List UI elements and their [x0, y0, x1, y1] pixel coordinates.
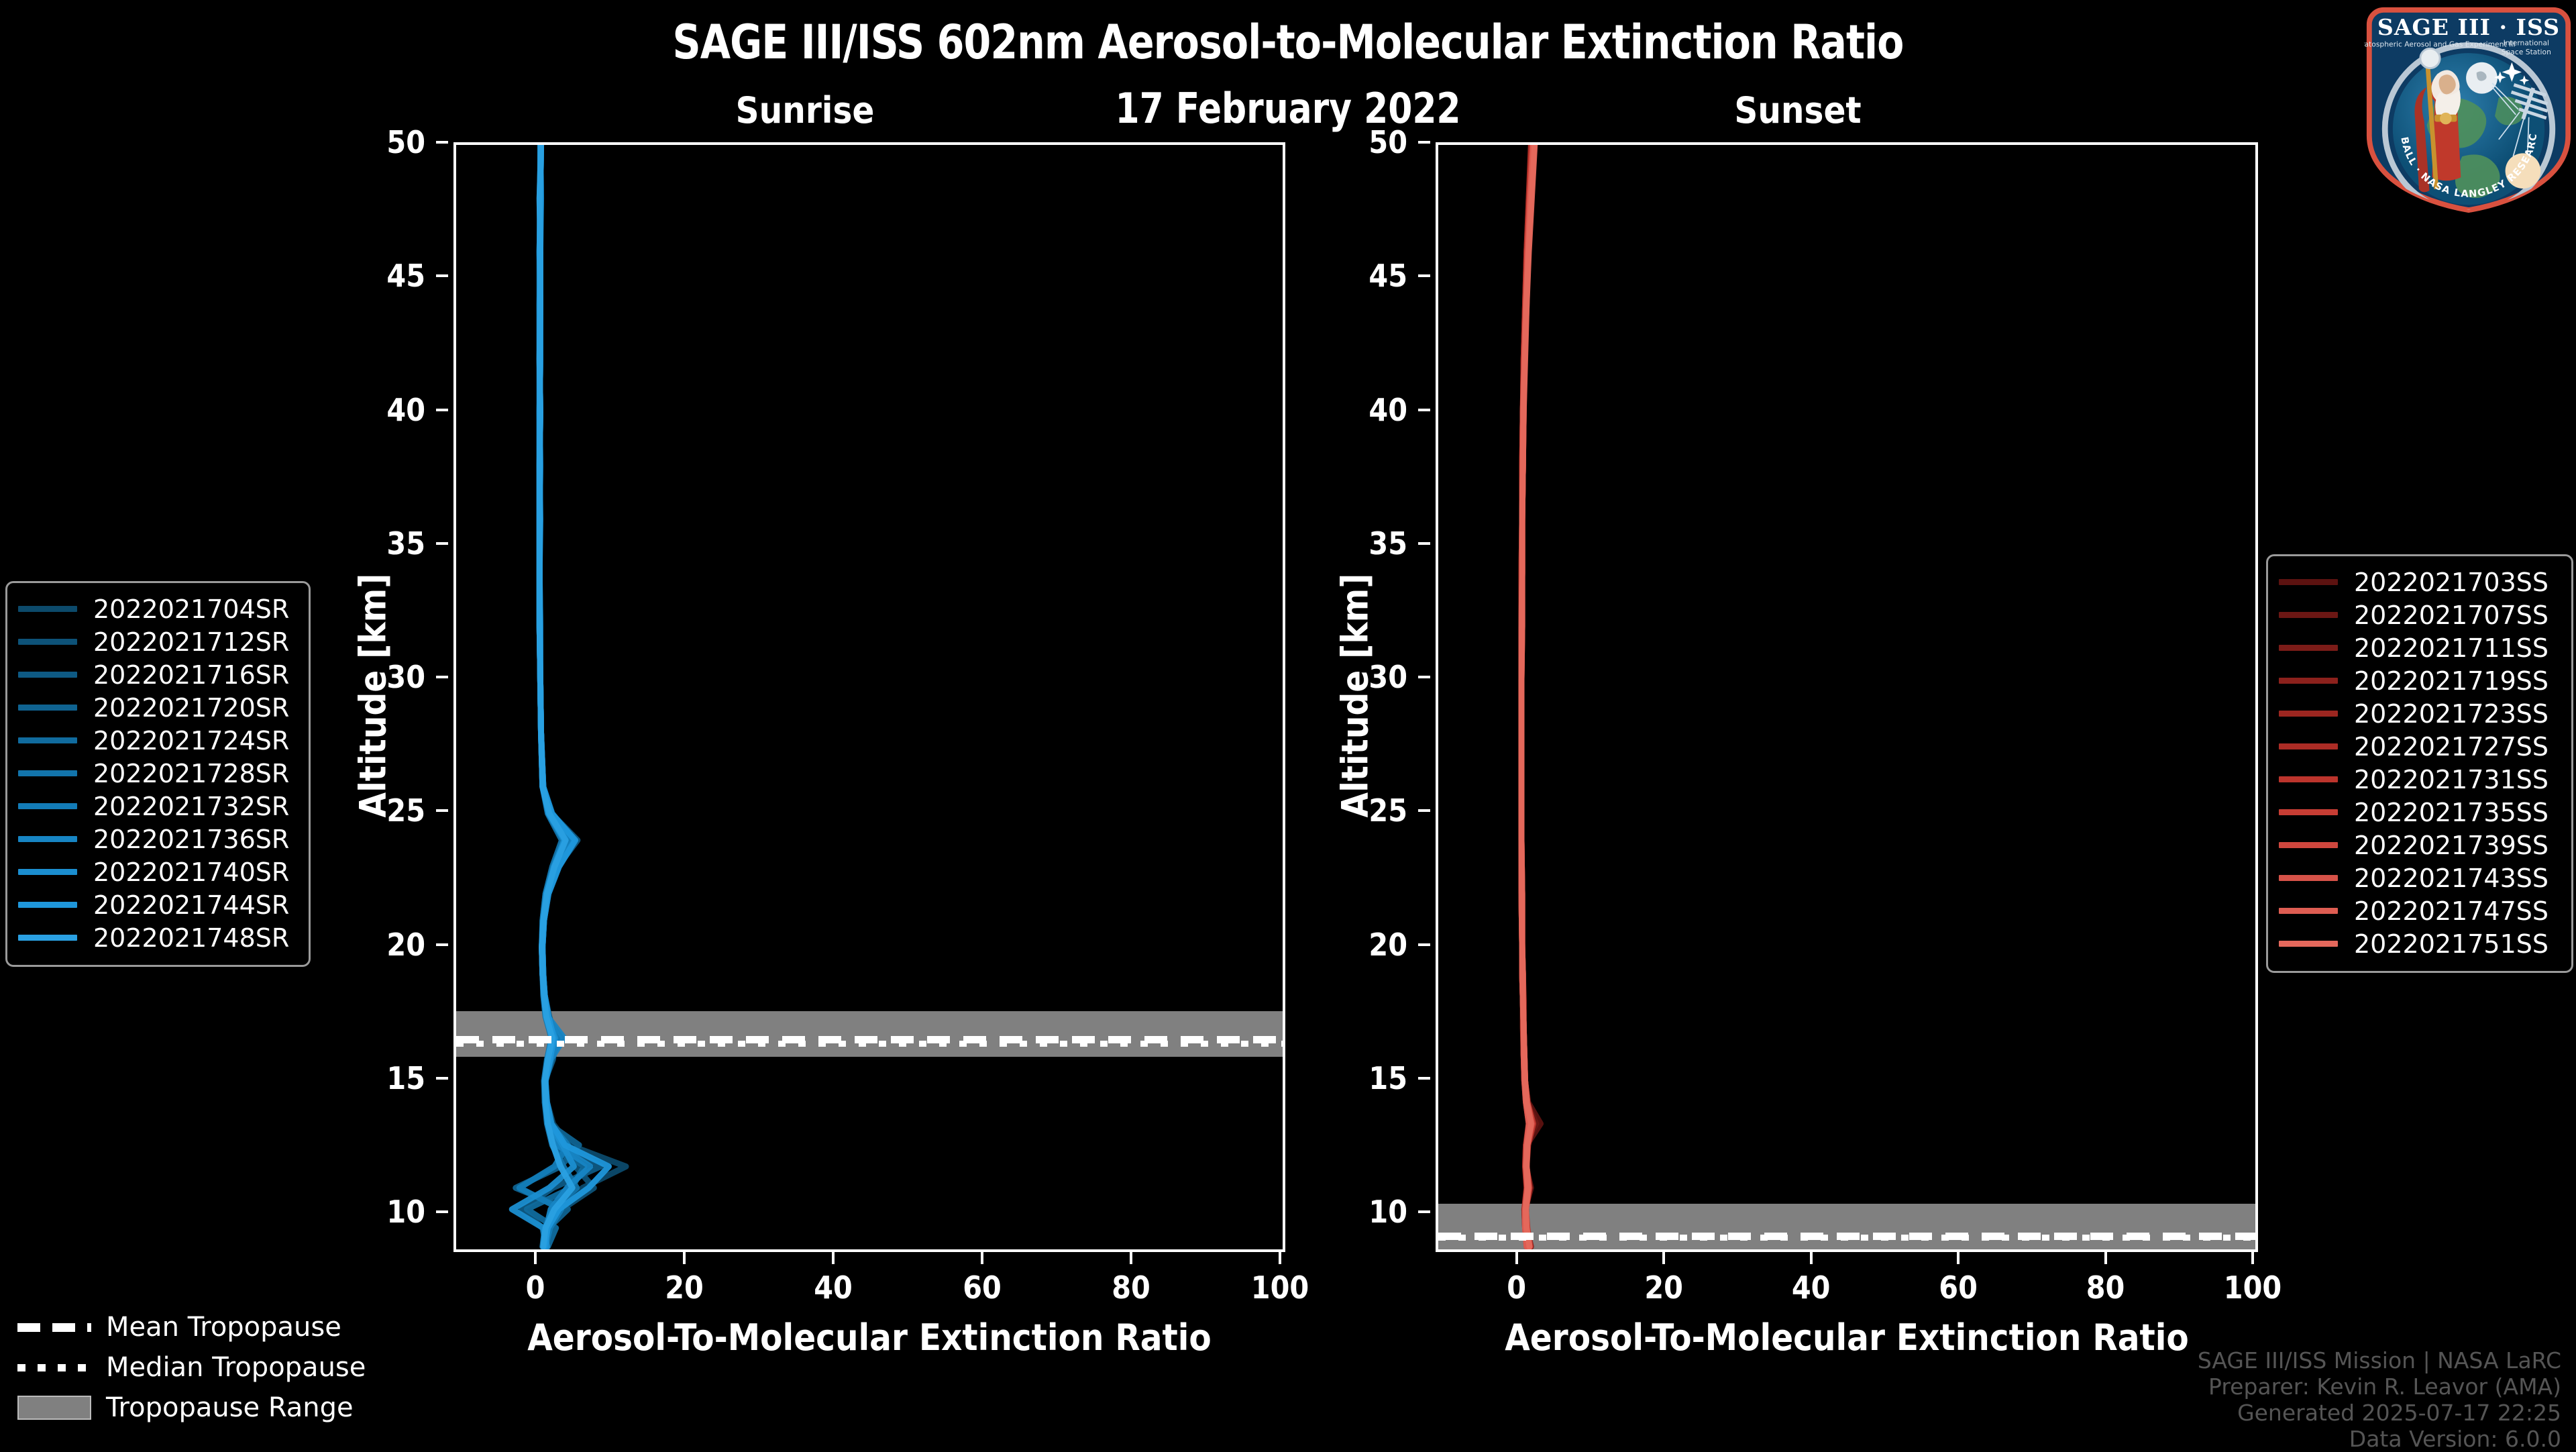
y-tick-label: 10 [325, 1194, 425, 1230]
legend-item-label: 2022021711SS [2354, 633, 2548, 663]
legend-item-label: 2022021728SR [93, 759, 289, 788]
x-tick-mark [683, 1252, 686, 1264]
footer-credits: SAGE III/ISS Mission | NASA LaRCPreparer… [2198, 1347, 2561, 1452]
x-tick-mark [981, 1252, 983, 1264]
svg-text:International: International [2504, 38, 2549, 47]
legend-item-label: 2022021740SR [93, 858, 289, 887]
legend-item-label: 2022021727SS [2354, 732, 2548, 762]
legend-item[interactable]: 2022021744SR [18, 888, 298, 921]
y-tick-label: 50 [325, 124, 425, 160]
x-tick-mark [2251, 1252, 2254, 1264]
legend-color-swatch [2279, 743, 2338, 749]
tropopause-key-item: Tropopause Range [17, 1388, 447, 1428]
legend-color-swatch [18, 639, 77, 645]
legend-color-swatch [18, 705, 77, 711]
y-tick-label: 15 [325, 1060, 425, 1096]
x-tick-label: 40 [814, 1269, 853, 1306]
y-tick-label: 40 [325, 392, 425, 428]
legend-item-label: 2022021732SR [93, 792, 289, 821]
legend-color-swatch [2279, 941, 2338, 947]
legend-item[interactable]: 2022021728SR [18, 757, 298, 790]
legend-item[interactable]: 2022021743SS [2279, 862, 2561, 894]
legend-color-swatch [18, 902, 77, 908]
x-tick-mark [832, 1252, 835, 1264]
legend-item[interactable]: 2022021707SS [2279, 599, 2561, 631]
legend-item-label: 2022021703SS [2354, 568, 2548, 597]
legend-item-label: 2022021748SR [93, 923, 289, 953]
x-tick-label: 0 [1507, 1269, 1526, 1306]
x-axis-title: Aerosol-To-Molecular Extinction Ratio [1436, 1316, 2258, 1359]
legend-item-label: 2022021712SR [93, 627, 289, 657]
y-tick-label: 45 [325, 258, 425, 294]
page-title: SAGE III/ISS 602nm Aerosol-to-Molecular … [90, 15, 2485, 70]
legend-item[interactable]: 2022021736SR [18, 823, 298, 855]
y-tick-label: 45 [1307, 258, 1407, 294]
x-tick-label: 60 [1939, 1269, 1978, 1306]
tropopause-key-item: Mean Tropopause [17, 1307, 447, 1347]
legend-color-swatch [2279, 809, 2338, 815]
legend-item[interactable]: 2022021723SS [2279, 697, 2561, 730]
sunset-x-axis: 020406080100Aerosol-To-Molecular Extinct… [1436, 1252, 2258, 1366]
y-axis-title: Altitude [km] [352, 562, 394, 830]
y-tick-label: 10 [1307, 1194, 1407, 1230]
legend-item[interactable]: 2022021724SR [18, 724, 298, 757]
x-tick-mark [1662, 1252, 1665, 1264]
tropopause-key-swatch-dashed [17, 1323, 91, 1332]
tropopause-key-swatch-block [17, 1396, 91, 1420]
y-tick-mark [436, 274, 448, 277]
x-tick-label: 60 [963, 1269, 1002, 1306]
footer-line: Generated 2025-07-17 22:25 [2198, 1400, 2561, 1426]
legend-color-swatch [18, 672, 77, 678]
legend-item[interactable]: 2022021735SS [2279, 796, 2561, 829]
svg-text:Stratospheric Aerosol and Gas: Stratospheric Aerosol and Gas Experiment… [2364, 40, 2516, 48]
x-axis-title: Aerosol-To-Molecular Extinction Ratio [453, 1316, 1285, 1359]
legend-color-swatch [2279, 678, 2338, 684]
y-tick-label: 35 [1307, 525, 1407, 562]
legend-item-label: 2022021739SS [2354, 831, 2548, 860]
legend-item[interactable]: 2022021711SS [2279, 631, 2561, 664]
tropopause-key-item: Median Tropopause [17, 1347, 447, 1388]
tropopause-key-label: Median Tropopause [106, 1352, 366, 1383]
x-tick-mark [1515, 1252, 1518, 1264]
legend-item-label: 2022021744SR [93, 890, 289, 920]
legend-color-swatch [2279, 579, 2338, 585]
tropopause-key-label: Mean Tropopause [106, 1312, 341, 1343]
series-2022021744SR [539, 145, 608, 1247]
y-tick-mark [436, 542, 448, 545]
sunrise-y-axis: 101520253035404550Altitude [km] [326, 142, 448, 1252]
sunrise-data-traces [456, 145, 1283, 1249]
legend-item[interactable]: 2022021727SS [2279, 730, 2561, 763]
legend-color-swatch [2279, 711, 2338, 717]
y-tick-label: 40 [1307, 392, 1407, 428]
y-tick-mark [436, 809, 448, 812]
median-tropopause-line [1438, 1235, 2255, 1241]
legend-item-label: 2022021751SS [2354, 929, 2548, 959]
y-tick-mark [436, 943, 448, 946]
legend-color-swatch [2279, 776, 2338, 782]
tropopause-key-label: Tropopause Range [106, 1392, 354, 1423]
sunrise-panel-title: Sunrise [671, 89, 939, 132]
legend-item-label: 2022021735SS [2354, 798, 2548, 827]
x-tick-mark [534, 1252, 537, 1264]
legend-item-label: 2022021719SS [2354, 666, 2548, 696]
legend-color-swatch [2279, 612, 2338, 618]
y-tick-mark [436, 1077, 448, 1080]
legend-item[interactable]: 2022021704SR [18, 592, 298, 625]
sunset-data-traces [1438, 145, 2255, 1249]
y-axis-title: Altitude [km] [1334, 562, 1377, 830]
sunrise-plot-panel [453, 142, 1285, 1252]
y-tick-mark [1418, 809, 1430, 812]
x-tick-label: 80 [2086, 1269, 2125, 1306]
legend-color-swatch [2279, 908, 2338, 914]
y-tick-label: 35 [325, 525, 425, 562]
x-tick-label: 100 [2224, 1269, 2282, 1306]
median-tropopause-line [456, 1041, 1283, 1047]
legend-item[interactable]: 2022021712SR [18, 625, 298, 658]
legend-item[interactable]: 2022021719SS [2279, 664, 2561, 697]
legend-color-swatch [2279, 645, 2338, 651]
sunset-y-axis: 101520253035404550Altitude [km] [1308, 142, 1430, 1252]
x-tick-label: 40 [1792, 1269, 1831, 1306]
y-tick-mark [1418, 1077, 1430, 1080]
y-tick-label: 20 [1307, 927, 1407, 963]
y-tick-mark [436, 141, 448, 144]
series-2022021748SR [539, 145, 572, 1247]
legend-color-swatch [18, 803, 77, 809]
legend-item-label: 2022021736SR [93, 825, 289, 854]
x-tick-mark [1130, 1252, 1132, 1264]
svg-text:Space Station: Space Station [2502, 48, 2551, 56]
legend-color-swatch [18, 737, 77, 743]
sage-iii-iss-mission-patch-logo: BALL · NASA LANGLEY RESEARCH CENTER · TA… [2364, 3, 2573, 216]
legend-item[interactable]: 2022021731SS [2279, 763, 2561, 796]
footer-line: SAGE III/ISS Mission | NASA LaRC [2198, 1347, 2561, 1373]
legend-item[interactable]: 2022021748SR [18, 921, 298, 954]
legend-color-swatch [18, 770, 77, 776]
legend-item[interactable]: 2022021732SR [18, 790, 298, 823]
svg-text:SAGE III · ISS: SAGE III · ISS [2377, 14, 2560, 40]
legend-item[interactable]: 2022021747SS [2279, 894, 2561, 927]
x-tick-label: 100 [1251, 1269, 1309, 1306]
legend-color-swatch [18, 935, 77, 941]
y-tick-mark [436, 409, 448, 411]
y-tick-mark [436, 676, 448, 678]
series-2022021704SR [539, 145, 626, 1247]
sunset-plot-panel [1436, 142, 2258, 1252]
series-2022021716SR [522, 145, 601, 1247]
legend-item-label: 2022021731SS [2354, 765, 2548, 794]
legend-item-label: 2022021743SS [2354, 864, 2548, 893]
date-title: 17 February 2022 [90, 84, 2485, 133]
y-tick-mark [1418, 943, 1430, 946]
sunrise-legend[interactable]: 2022021704SR2022021712SR2022021716SR2022… [5, 581, 311, 967]
sunset-panel-title: Sunset [1664, 89, 1932, 132]
legend-item-label: 2022021720SR [93, 693, 289, 723]
x-tick-mark [1810, 1252, 1813, 1264]
legend-item-label: 2022021716SR [93, 660, 289, 690]
x-tick-label: 0 [526, 1269, 545, 1306]
tropopause-key-swatch-dotted [17, 1364, 91, 1371]
legend-color-swatch [2279, 875, 2338, 881]
legend-item-label: 2022021704SR [93, 594, 289, 624]
legend-item-label: 2022021747SS [2354, 896, 2548, 926]
y-tick-label: 50 [1307, 124, 1407, 160]
legend-color-swatch [18, 869, 77, 875]
y-tick-mark [1418, 274, 1430, 277]
series-2022021724SR [527, 145, 584, 1247]
legend-item[interactable]: 2022021703SS [2279, 566, 2561, 599]
legend-color-swatch [2279, 842, 2338, 848]
y-tick-mark [1418, 141, 1430, 144]
tropopause-legend: Mean TropopauseMedian TropopauseTropopau… [17, 1307, 447, 1428]
y-tick-mark [1418, 1210, 1430, 1213]
footer-line: Preparer: Kevin R. Leavor (AMA) [2198, 1373, 2561, 1400]
legend-color-swatch [18, 606, 77, 612]
legend-item[interactable]: 2022021739SS [2279, 829, 2561, 862]
legend-item[interactable]: 2022021740SR [18, 855, 298, 888]
x-tick-label: 20 [1644, 1269, 1683, 1306]
x-tick-label: 20 [665, 1269, 704, 1306]
y-tick-mark [436, 1210, 448, 1213]
legend-item-label: 2022021707SS [2354, 601, 2548, 630]
legend-color-swatch [18, 836, 77, 842]
sunset-legend[interactable]: 2022021703SS2022021707SS2022021711SS2022… [2266, 554, 2573, 973]
y-tick-label: 15 [1307, 1060, 1407, 1096]
legend-item-label: 2022021723SS [2354, 699, 2548, 729]
x-tick-mark [1279, 1252, 1281, 1264]
sunrise-x-axis: 020406080100Aerosol-To-Molecular Extinct… [453, 1252, 1285, 1366]
x-tick-label: 80 [1112, 1269, 1150, 1306]
legend-item[interactable]: 2022021716SR [18, 658, 298, 691]
y-tick-label: 20 [325, 927, 425, 963]
y-tick-mark [1418, 409, 1430, 411]
legend-item[interactable]: 2022021751SS [2279, 927, 2561, 960]
y-tick-mark [1418, 542, 1430, 545]
footer-line: Data Version: 6.0.0 [2198, 1426, 2561, 1452]
x-tick-mark [2104, 1252, 2107, 1264]
y-tick-mark [1418, 676, 1430, 678]
legend-item-label: 2022021724SR [93, 726, 289, 756]
x-tick-mark [1957, 1252, 1960, 1264]
legend-item[interactable]: 2022021720SR [18, 691, 298, 724]
